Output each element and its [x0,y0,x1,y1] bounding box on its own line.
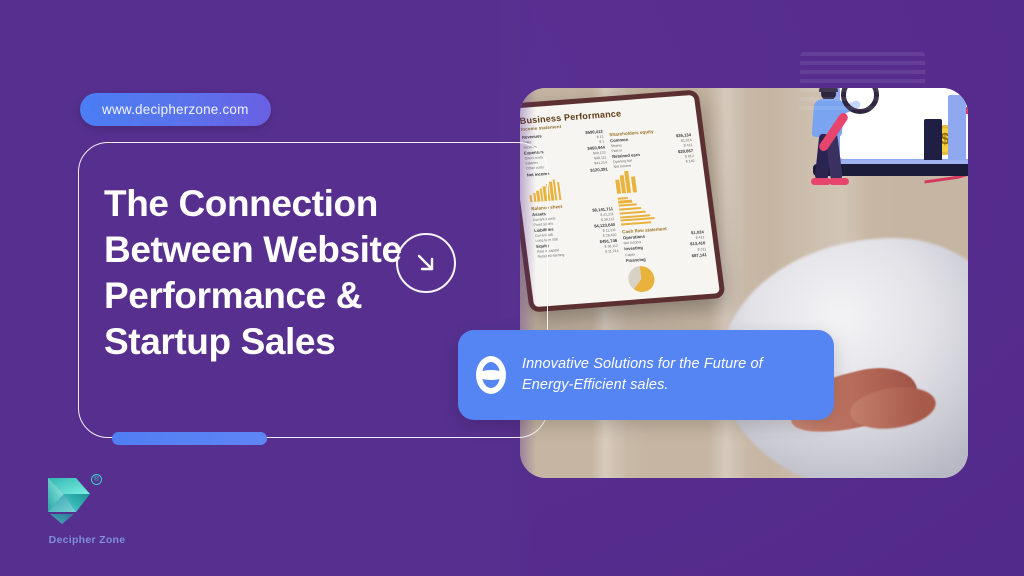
tagline-card: Innovative Solutions for the Future of E… [458,330,834,420]
analytics-laptop-illustration: $ [805,88,968,206]
accent-underline-bar [112,432,267,445]
row-value: $120,391 [590,166,608,173]
dashboard-cashflow-column: Cash flow statement Operations$1,024 Net… [617,189,711,292]
website-url-text: www.decipherzone.com [102,102,249,117]
page-title: The Connection Between Website Performan… [104,181,404,365]
dashboard-screen: Business Performance Income statement Re… [520,95,720,307]
chart-bar [924,119,942,161]
chart-bar [948,95,966,161]
row-label: Net income [613,164,631,170]
row-label: Financing [626,256,647,264]
person-shoe [829,178,849,185]
brand-logo[interactable]: ® Decipher Zone [32,472,142,554]
tablet-device: Business Performance Income statement Re… [520,90,726,313]
cashflow-pie-chart [627,265,656,293]
person-with-magnifier-illustration [799,88,869,200]
brand-name: Decipher Zone [32,534,142,546]
ring-icon [476,356,506,394]
decipher-zone-logo-icon: ® [40,472,100,530]
website-url-pill[interactable]: www.decipherzone.com [80,93,271,126]
person-shoe [811,178,831,185]
row-value: $87,141 [691,252,707,259]
tagline-text: Innovative Solutions for the Future of E… [522,354,812,396]
arrow-down-right-icon [411,248,441,278]
row-value: $ 11,214 [605,249,619,255]
balance-hbar-chart [618,191,703,225]
dashboard-equity-column: Shareholders equity Common$36,134 Shares… [608,122,698,195]
row-value: $ 140 [685,159,694,165]
arrow-down-right-badge[interactable] [396,233,456,293]
registered-mark-icon: ® [91,474,102,485]
banner-root: Business Performance Income statement Re… [0,0,1024,576]
